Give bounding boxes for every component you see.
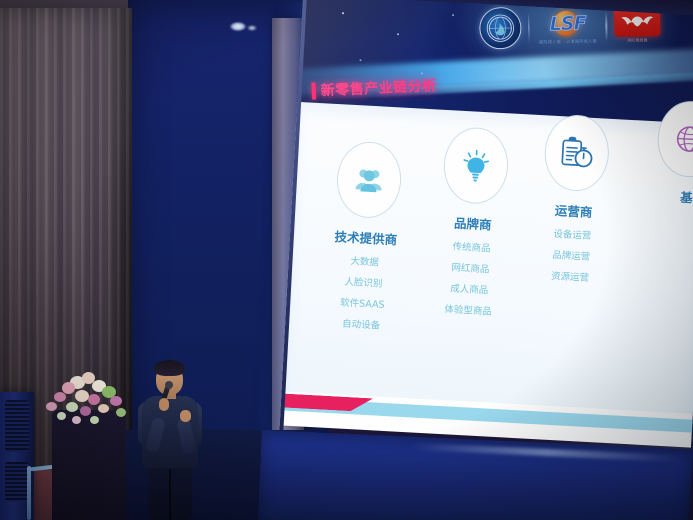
flower-foliage: [66, 402, 78, 412]
logo-divider: [528, 13, 530, 43]
presenter-leg-separation: [169, 470, 171, 520]
flower-blossom: [46, 402, 57, 411]
column-heading: 技术提供商: [312, 225, 421, 250]
led-presentation-screen: LSF 国际成人展 · 上海国际成人展 网红电商展 新零售产业: [279, 0, 693, 464]
conference-photo: LSF 国际成人展 · 上海国际成人展 网红电商展 新零售产业: [0, 0, 693, 520]
slide-title-block: 新零售产业链分析: [311, 75, 437, 100]
flower-blossom: [80, 406, 91, 416]
people-group-icon: [335, 140, 403, 219]
flower-blossom: [110, 396, 122, 406]
column-item: 成人商品: [415, 279, 524, 299]
flower-foliage: [57, 412, 66, 420]
lsf-logo-text: LSF: [550, 12, 586, 35]
presenter-hand-left: [159, 398, 169, 411]
column-item: 资源运营: [516, 266, 625, 286]
microphone-stand-pole: [27, 466, 31, 520]
floral-arrangement: [40, 368, 138, 434]
banner-particle: [342, 12, 344, 14]
slide-column-tech: 技术提供商 大数据 人脸识别 软件SAAS 自动设备: [307, 139, 425, 334]
banner-particle: [421, 72, 423, 74]
flower-blossom: [62, 382, 75, 394]
w-eagle-icon: [614, 8, 661, 37]
column-heading: 基: [632, 184, 693, 209]
association-globe-emblem-icon: [479, 7, 522, 50]
flower-blossom: [54, 392, 66, 402]
slide-columns: 技术提供商 大数据 人脸识别 软件SAAS 自动设备: [281, 102, 693, 424]
flower-foliage: [90, 416, 99, 424]
column-item: 网红商品: [416, 258, 525, 278]
lsf-logo: LSF 国际成人展 · 上海国际成人展: [536, 9, 599, 45]
w-logo-subtext: 网红电商展: [627, 37, 647, 43]
presenter: [136, 358, 206, 520]
lsf-logo-subtext: 国际成人展 · 上海国际成人展: [539, 38, 597, 45]
globe-grid-icon: [656, 99, 693, 178]
slide-column-infrastructure: 基: [632, 98, 693, 209]
ceiling-light: [230, 22, 246, 31]
sponsor-logo-row: LSF 国际成人展 · 上海国际成人展 网红电商展: [479, 4, 661, 49]
presenter-hand-right: [180, 410, 191, 422]
ceiling-light-secondary: [247, 25, 257, 31]
w-eagle-logo: 网红电商展: [614, 8, 661, 44]
column-item: 设备运营: [518, 224, 627, 244]
column-item: 体验型商品: [414, 299, 523, 319]
flower-blossom: [75, 390, 89, 402]
slide-column-operator: 运营商 设备运营 品牌运营 资源运营: [516, 112, 633, 286]
flower-foliage: [116, 408, 126, 417]
column-item: 软件SAAS: [308, 293, 417, 313]
microphone-capsule: [165, 381, 173, 389]
banner-particle: [359, 59, 361, 61]
lightbulb-icon: [442, 126, 510, 205]
flower-blossom: [72, 416, 81, 424]
banner-particle: [397, 33, 399, 35]
slide-body: 技术提供商 大数据 人脸识别 软件SAAS 自动设备: [281, 102, 693, 424]
column-item: 传统商品: [417, 237, 526, 257]
presenter-hair: [154, 360, 185, 376]
flower-blossom: [98, 404, 109, 413]
speaker-grille-lower: [5, 462, 29, 502]
speaker-grille-upper: [5, 400, 29, 452]
column-item: 品牌运营: [517, 245, 626, 265]
slide-column-brand: 品牌商 传统商品 网红商品 成人商品 体验型商品: [414, 125, 532, 320]
column-item: 大数据: [310, 251, 419, 271]
column-item: 人脸识别: [309, 272, 418, 292]
clipboard-stopwatch-icon: [543, 113, 611, 192]
slide-title: 新零售产业链分析: [320, 75, 437, 100]
title-accent-bar: [311, 82, 316, 99]
column-heading: 运营商: [519, 198, 628, 223]
flower-blossom: [88, 394, 100, 405]
banner-particle: [452, 14, 454, 16]
column-heading: 品牌商: [418, 211, 527, 236]
column-item: 自动设备: [307, 314, 416, 334]
logo-divider: [605, 11, 607, 41]
